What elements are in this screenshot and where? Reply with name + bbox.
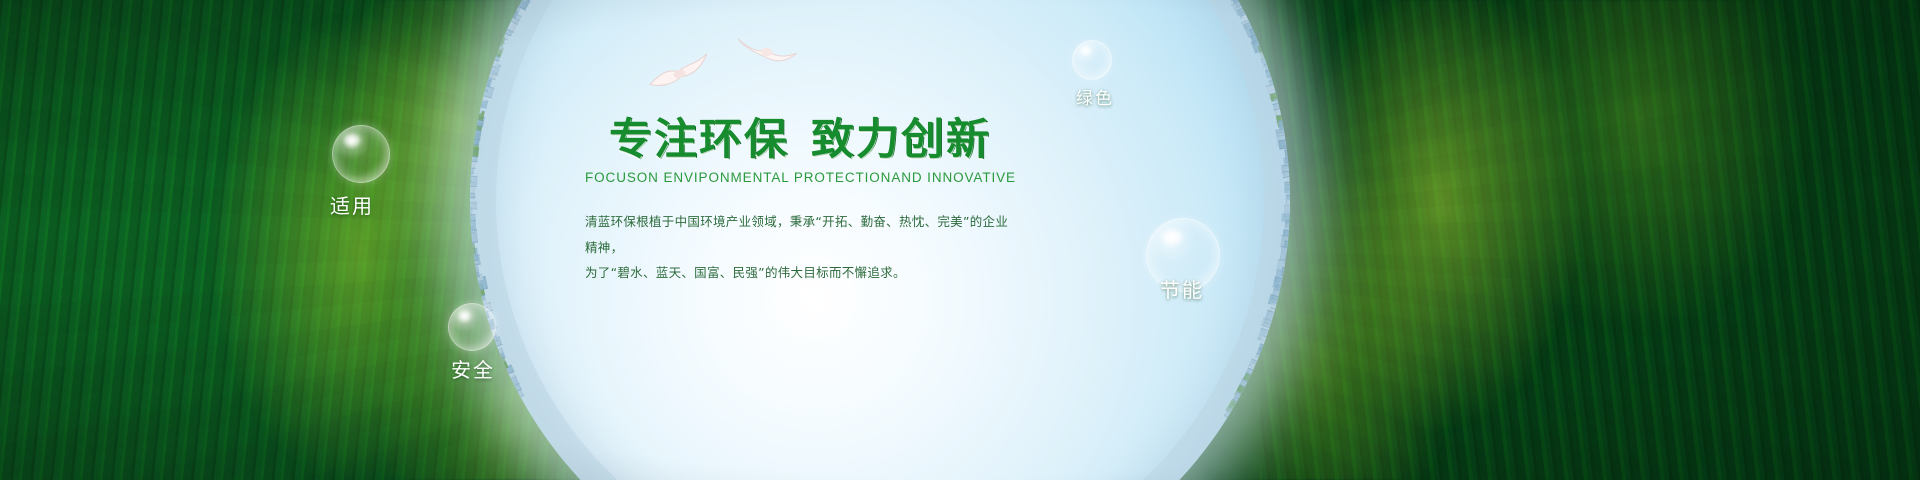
headline-part-2: 致力创新 xyxy=(811,115,991,165)
seagull-icon-right xyxy=(734,27,800,73)
keyword-label-shiyong: 适用 xyxy=(330,190,374,219)
bubble-icon-lvse xyxy=(1072,40,1112,80)
paragraph-line-2: 为了“碧水、蓝天、国富、民强”的伟大目标而不懈追求。 xyxy=(585,260,1015,286)
eco-hero-banner: 专注环保致力创新 FOCUSON ENVIPONMENTAL PROTECTIO… xyxy=(0,0,1920,480)
keyword-label-lvse: 绿色 xyxy=(1076,84,1114,109)
bubble-icon-anquan xyxy=(448,303,496,351)
hero-copy: 专注环保致力创新 FOCUSON ENVIPONMENTAL PROTECTIO… xyxy=(585,118,1015,286)
headline-part-1: 专注环保 xyxy=(609,115,789,165)
bubble-icon-shiyong xyxy=(332,125,390,183)
hero-paragraph: 清蓝环保根植于中国环境产业领域，秉承“开拓、勤奋、热忱、完美”的企业精神， 为了… xyxy=(585,209,1015,286)
paragraph-line-1: 清蓝环保根植于中国环境产业领域，秉承“开拓、勤奋、热忱、完美”的企业精神， xyxy=(585,209,1015,260)
keyword-label-anquan: 安全 xyxy=(451,354,495,383)
keyword-label-jieneng: 节能 xyxy=(1160,274,1204,303)
page-title: 专注环保致力创新 xyxy=(585,118,1015,163)
headline-subtitle: FOCUSON ENVIPONMENTAL PROTECTIONAND INNO… xyxy=(585,170,1015,185)
